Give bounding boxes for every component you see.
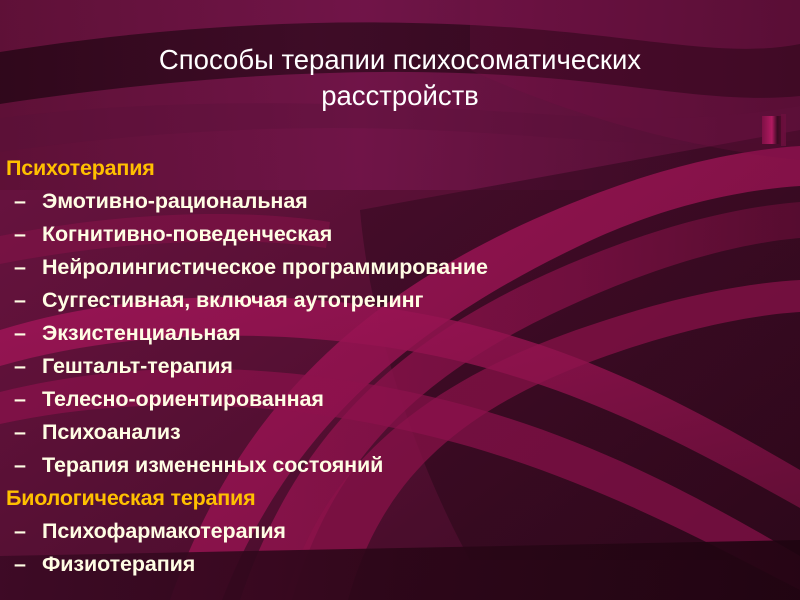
slide-title-line-2: расстройств	[40, 78, 760, 114]
list-item-label: Телесно-ориентированная	[42, 387, 324, 411]
slide-title: Способы терапии психосоматических расстр…	[40, 42, 760, 114]
slide-title-line-1: Способы терапии психосоматических	[40, 42, 760, 78]
bullet-dash-icon: –	[14, 218, 42, 251]
list-item: –Терапия измененных состояний	[0, 449, 800, 482]
list-item: –Психоанализ	[0, 416, 800, 449]
list-item-label: Экзистенциальная	[42, 321, 241, 345]
list-item-label: Терапия измененных состояний	[42, 453, 383, 477]
bullet-dash-icon: –	[14, 449, 42, 482]
list-item: –Суггестивная, включая аутотренинг	[0, 284, 800, 317]
list-item-label: Нейролингистическое программирование	[42, 255, 488, 279]
presentation-slide: Способы терапии психосоматических расстр…	[0, 0, 800, 600]
list-item-label: Гештальт-терапия	[42, 354, 233, 378]
list-item-label: Эмотивно-рациональная	[42, 189, 308, 213]
list-item: –Когнитивно-поведенческая	[0, 218, 800, 251]
section-heading-psychotherapy: Психотерапия	[0, 152, 800, 185]
list-item: –Психофармакотерапия	[0, 515, 800, 548]
bullet-dash-icon: –	[14, 317, 42, 350]
list-item: –Гештальт-терапия	[0, 350, 800, 383]
section-heading-biological-therapy: Биологическая терапия	[0, 482, 800, 515]
bullet-dash-icon: –	[14, 350, 42, 383]
bullet-dash-icon: –	[14, 383, 42, 416]
list-item: –Телесно-ориентированная	[0, 383, 800, 416]
bullet-dash-icon: –	[14, 515, 42, 548]
bullet-dash-icon: –	[14, 284, 42, 317]
list-item: –Нейролингистическое программирование	[0, 251, 800, 284]
list-item-label: Психоанализ	[42, 420, 181, 444]
list-item: –Физиотерапия	[0, 548, 800, 581]
slide-body: Психотерапия –Эмотивно-рациональная –Ког…	[0, 152, 800, 581]
list-item-label: Когнитивно-поведенческая	[42, 222, 332, 246]
bullet-dash-icon: –	[14, 548, 42, 581]
list-item: –Эмотивно-рациональная	[0, 185, 800, 218]
list-item-label: Суггестивная, включая аутотренинг	[42, 288, 423, 312]
list-item-label: Физиотерапия	[42, 552, 195, 576]
list-item-label: Психофармакотерапия	[42, 519, 286, 543]
bullet-dash-icon: –	[14, 185, 42, 218]
bullet-dash-icon: –	[14, 251, 42, 284]
bullet-dash-icon: –	[14, 416, 42, 449]
list-item: –Экзистенциальная	[0, 317, 800, 350]
slide-content: Способы терапии психосоматических расстр…	[0, 0, 800, 600]
